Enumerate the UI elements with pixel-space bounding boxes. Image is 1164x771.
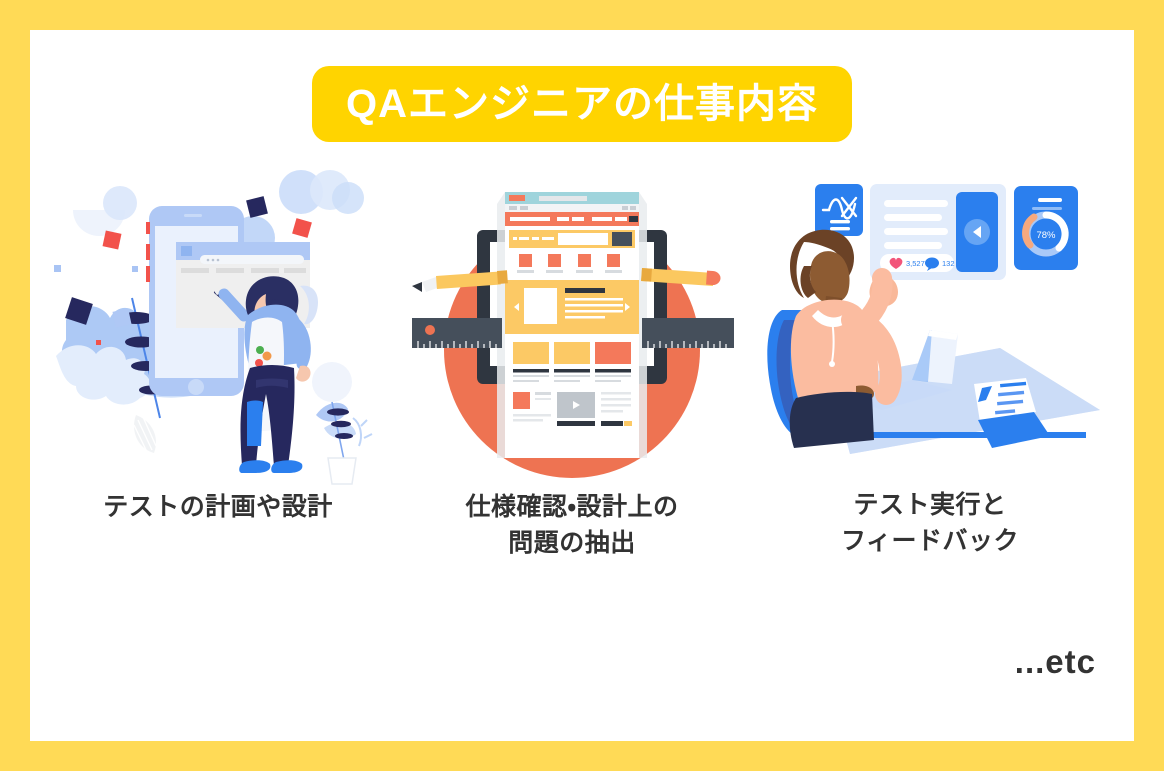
title-banner: QAエンジニアの仕事内容 xyxy=(312,66,852,142)
donut-value: 78% xyxy=(1036,230,1056,241)
caption-line: テストの計画や設計 xyxy=(48,490,388,526)
caption-line: テスト実行と xyxy=(760,488,1100,524)
caption-execution: テスト実行と フィードバック xyxy=(760,488,1100,559)
column-execution: 3,527 132 78% xyxy=(760,170,1100,610)
likes-count: 3,527 xyxy=(906,259,925,268)
infographic-poster: QAエンジニアの仕事内容 xyxy=(0,0,1164,771)
potted-plant xyxy=(316,402,372,484)
poster-canvas: QAエンジニアの仕事内容 xyxy=(30,30,1134,741)
column-planning: テストの計画や設計 xyxy=(48,170,388,610)
caption-line: 問題の抽出 xyxy=(402,526,742,562)
column-spec-review: 仕様確認・設計上の 問題の抽出 xyxy=(402,170,742,610)
caption-spec-review: 仕様確認・設計上の 問題の抽出 xyxy=(402,490,742,561)
caption-line: 仕様確認・設計上の xyxy=(402,490,742,526)
illustration-person-with-dashboard-cards: 3,527 132 78% xyxy=(760,170,1100,490)
illustration-person-pointing-at-phone xyxy=(48,170,388,490)
comments-count: 132 xyxy=(942,259,955,268)
page-title: QAエンジニアの仕事内容 xyxy=(346,84,818,124)
caption-line: フィードバック xyxy=(760,524,1100,560)
card-waveform xyxy=(815,184,863,236)
footnote-etc: ...etc xyxy=(1015,643,1096,681)
webpage-mockup xyxy=(497,192,647,458)
card-donut-chart: 78% xyxy=(1014,186,1078,270)
card-media-stats: 3,527 132 xyxy=(870,184,1006,280)
caption-planning: テストの計画や設計 xyxy=(48,490,388,526)
illustration-monitor-webpage-mockup xyxy=(402,170,742,490)
